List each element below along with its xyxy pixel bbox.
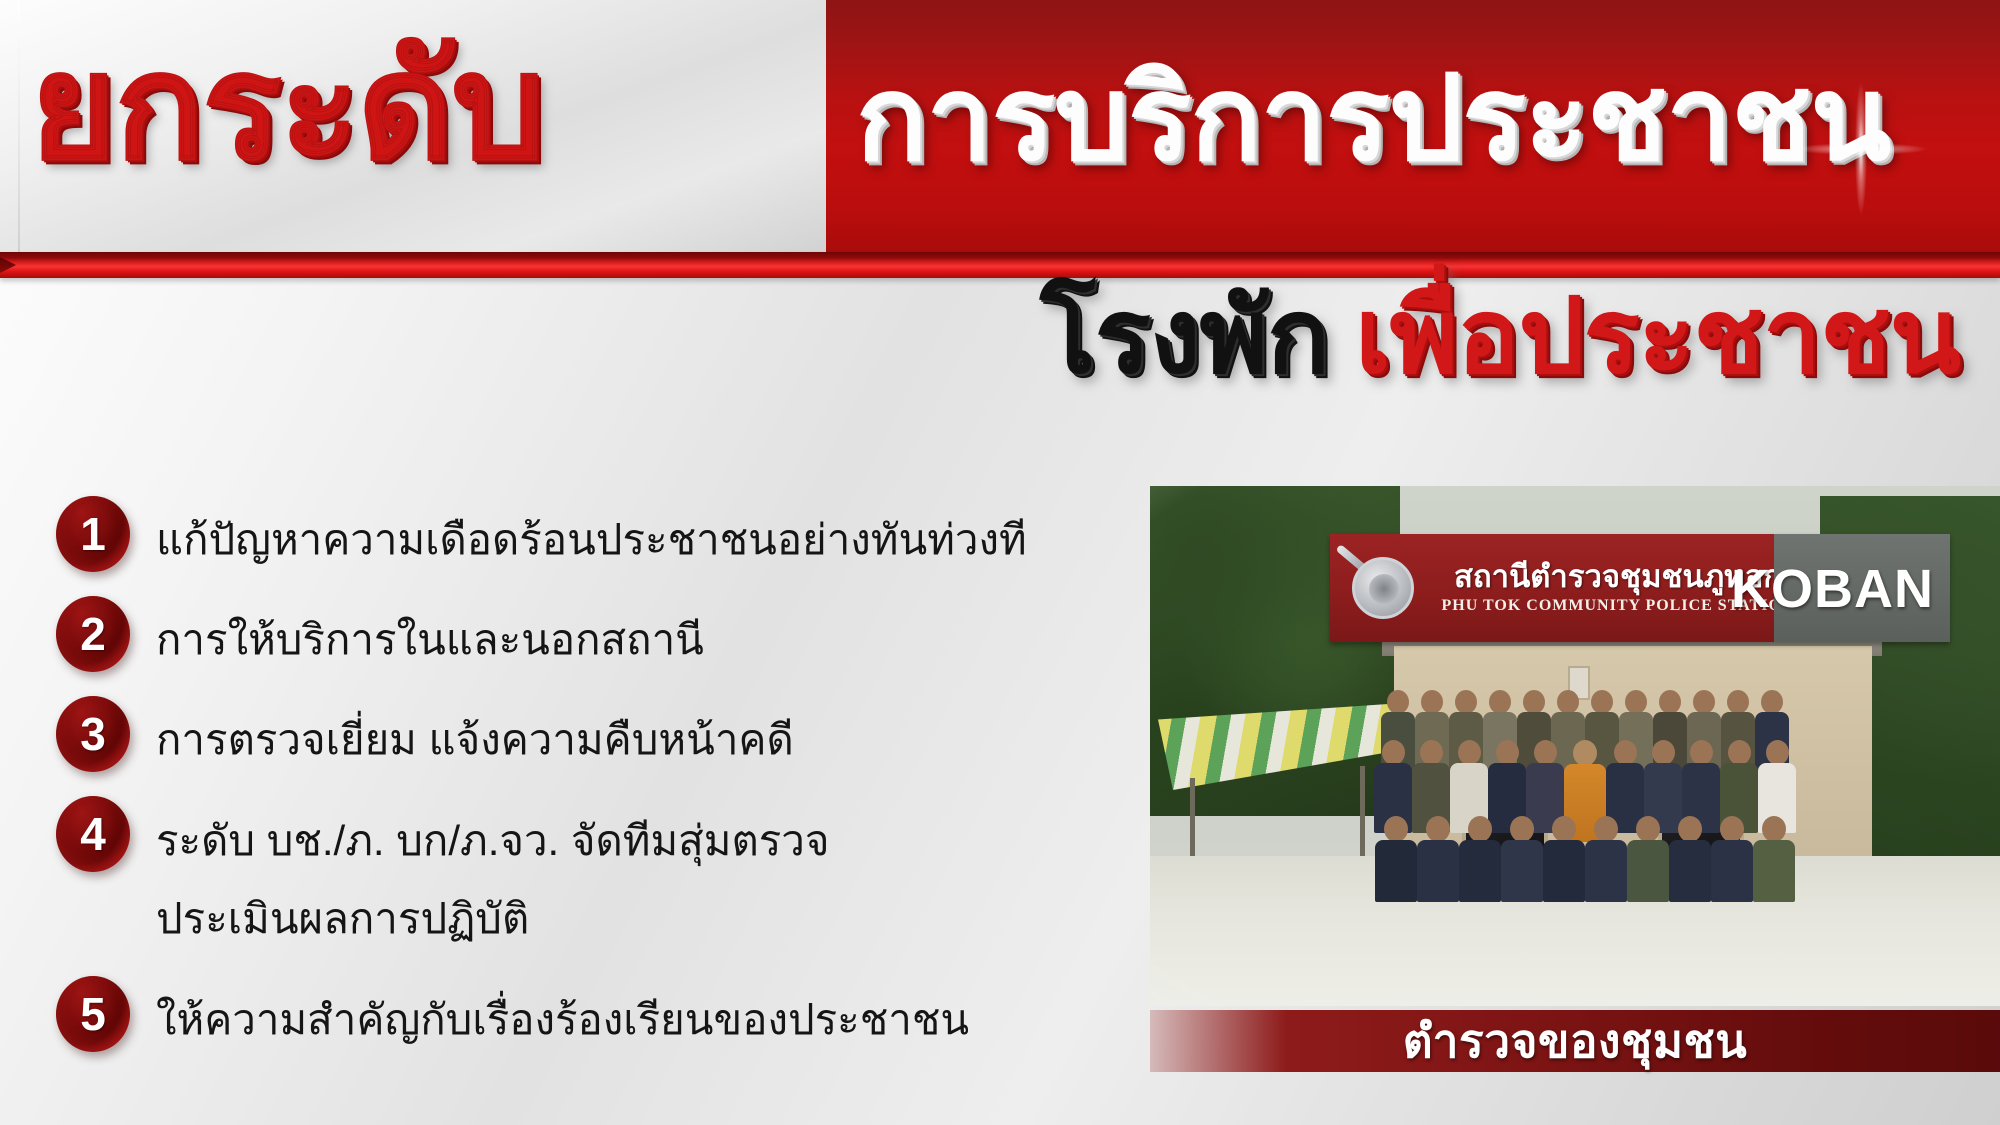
officer-crowd: [1190, 670, 1980, 960]
photo-caption-bar: ตำรวจของชุมชน: [1150, 1010, 2000, 1072]
person: [1459, 816, 1501, 902]
police-emblem-icon: [1340, 545, 1426, 631]
list-number-label: 3: [80, 711, 106, 757]
person: [1627, 816, 1669, 902]
sign-koban-text: KOBAN: [1731, 558, 1934, 620]
list-item: 3 การตรวจเยี่ยม แจ้งความคืบหน้าคดี: [56, 694, 1146, 778]
list-item: 4 ระดับ บช./ภ. บก/ภ.จว. จัดทีมสุ่มตรวจ ป…: [56, 794, 1146, 958]
list-item-text: ให้ความสำคัญกับเรื่องร้องเรียนของประชาชน: [156, 974, 1146, 1058]
list-item-text: การตรวจเยี่ยม แจ้งความคืบหน้าคดี: [156, 694, 1146, 778]
list-number-label: 2: [80, 611, 106, 657]
person: [1753, 816, 1795, 902]
subtitle: โรงพักเพื่อประชาชน: [0, 282, 2000, 392]
group-photo: สถานีตำรวจชุมชนภูทอก PHU TOK COMMUNITY P…: [1150, 486, 2000, 1006]
person: [1375, 816, 1417, 902]
list-number-badge: 1: [56, 496, 130, 572]
person: [1585, 816, 1627, 902]
list-item-text: การให้บริการในและนอกสถานี: [156, 594, 1146, 678]
list-item-text-line2: ประเมินผลการปฏิบัติ: [156, 880, 1146, 958]
photo-caption-text: ตำรวจของชุมชน: [1403, 1005, 1747, 1078]
list-number-badge: 3: [56, 696, 130, 772]
list-item: 1 แก้ปัญหาความเดือดร้อนประชาชนอย่างทันท่…: [56, 494, 1146, 578]
list-item: 5 ให้ความสำคัญกับเรื่องร้องเรียนของประชา…: [56, 974, 1146, 1058]
person: [1669, 816, 1711, 902]
person: [1501, 816, 1543, 902]
person: [1543, 816, 1585, 902]
list-number-label: 5: [80, 991, 106, 1037]
header-banner: ยกระดับ การบริการประชาชน: [0, 0, 2000, 252]
subtitle-part-black: โรงพัก: [1040, 282, 1329, 392]
page-title-primary: ยกระดับ: [30, 34, 543, 182]
numbered-list: 1 แก้ปัญหาความเดือดร้อนประชาชนอย่างทันท่…: [56, 494, 1146, 1074]
list-item-text: ระดับ บช./ภ. บก/ภ.จว. จัดทีมสุ่มตรวจ: [156, 794, 1146, 880]
header-right-panel: การบริการประชาชน: [826, 0, 2000, 252]
list-item: 2 การให้บริการในและนอกสถานี: [56, 594, 1146, 678]
list-number-badge: 2: [56, 596, 130, 672]
subtitle-part-red: เพื่อประชาชน: [1355, 282, 1960, 392]
list-number-badge: 5: [56, 976, 130, 1052]
list-item-text: แก้ปัญหาความเดือดร้อนประชาชนอย่างทันท่วง…: [156, 494, 1146, 578]
crowd-row-front: [1190, 816, 1980, 902]
person: [1417, 816, 1459, 902]
header-divider-bar: [0, 252, 2000, 278]
person: [1711, 816, 1753, 902]
station-sign: สถานีตำรวจชุมชนภูทอก PHU TOK COMMUNITY P…: [1330, 534, 1950, 642]
header-left-panel: ยกระดับ: [0, 0, 826, 252]
page-title-secondary: การบริการประชาชน: [856, 60, 1890, 178]
list-number-label: 1: [80, 511, 106, 557]
photo-canvas: สถานีตำรวจชุมชนภูทอก PHU TOK COMMUNITY P…: [1150, 486, 2000, 1006]
list-number-badge: 4: [56, 796, 130, 872]
list-number-label: 4: [80, 811, 106, 857]
emblem-disc: [1352, 557, 1414, 619]
